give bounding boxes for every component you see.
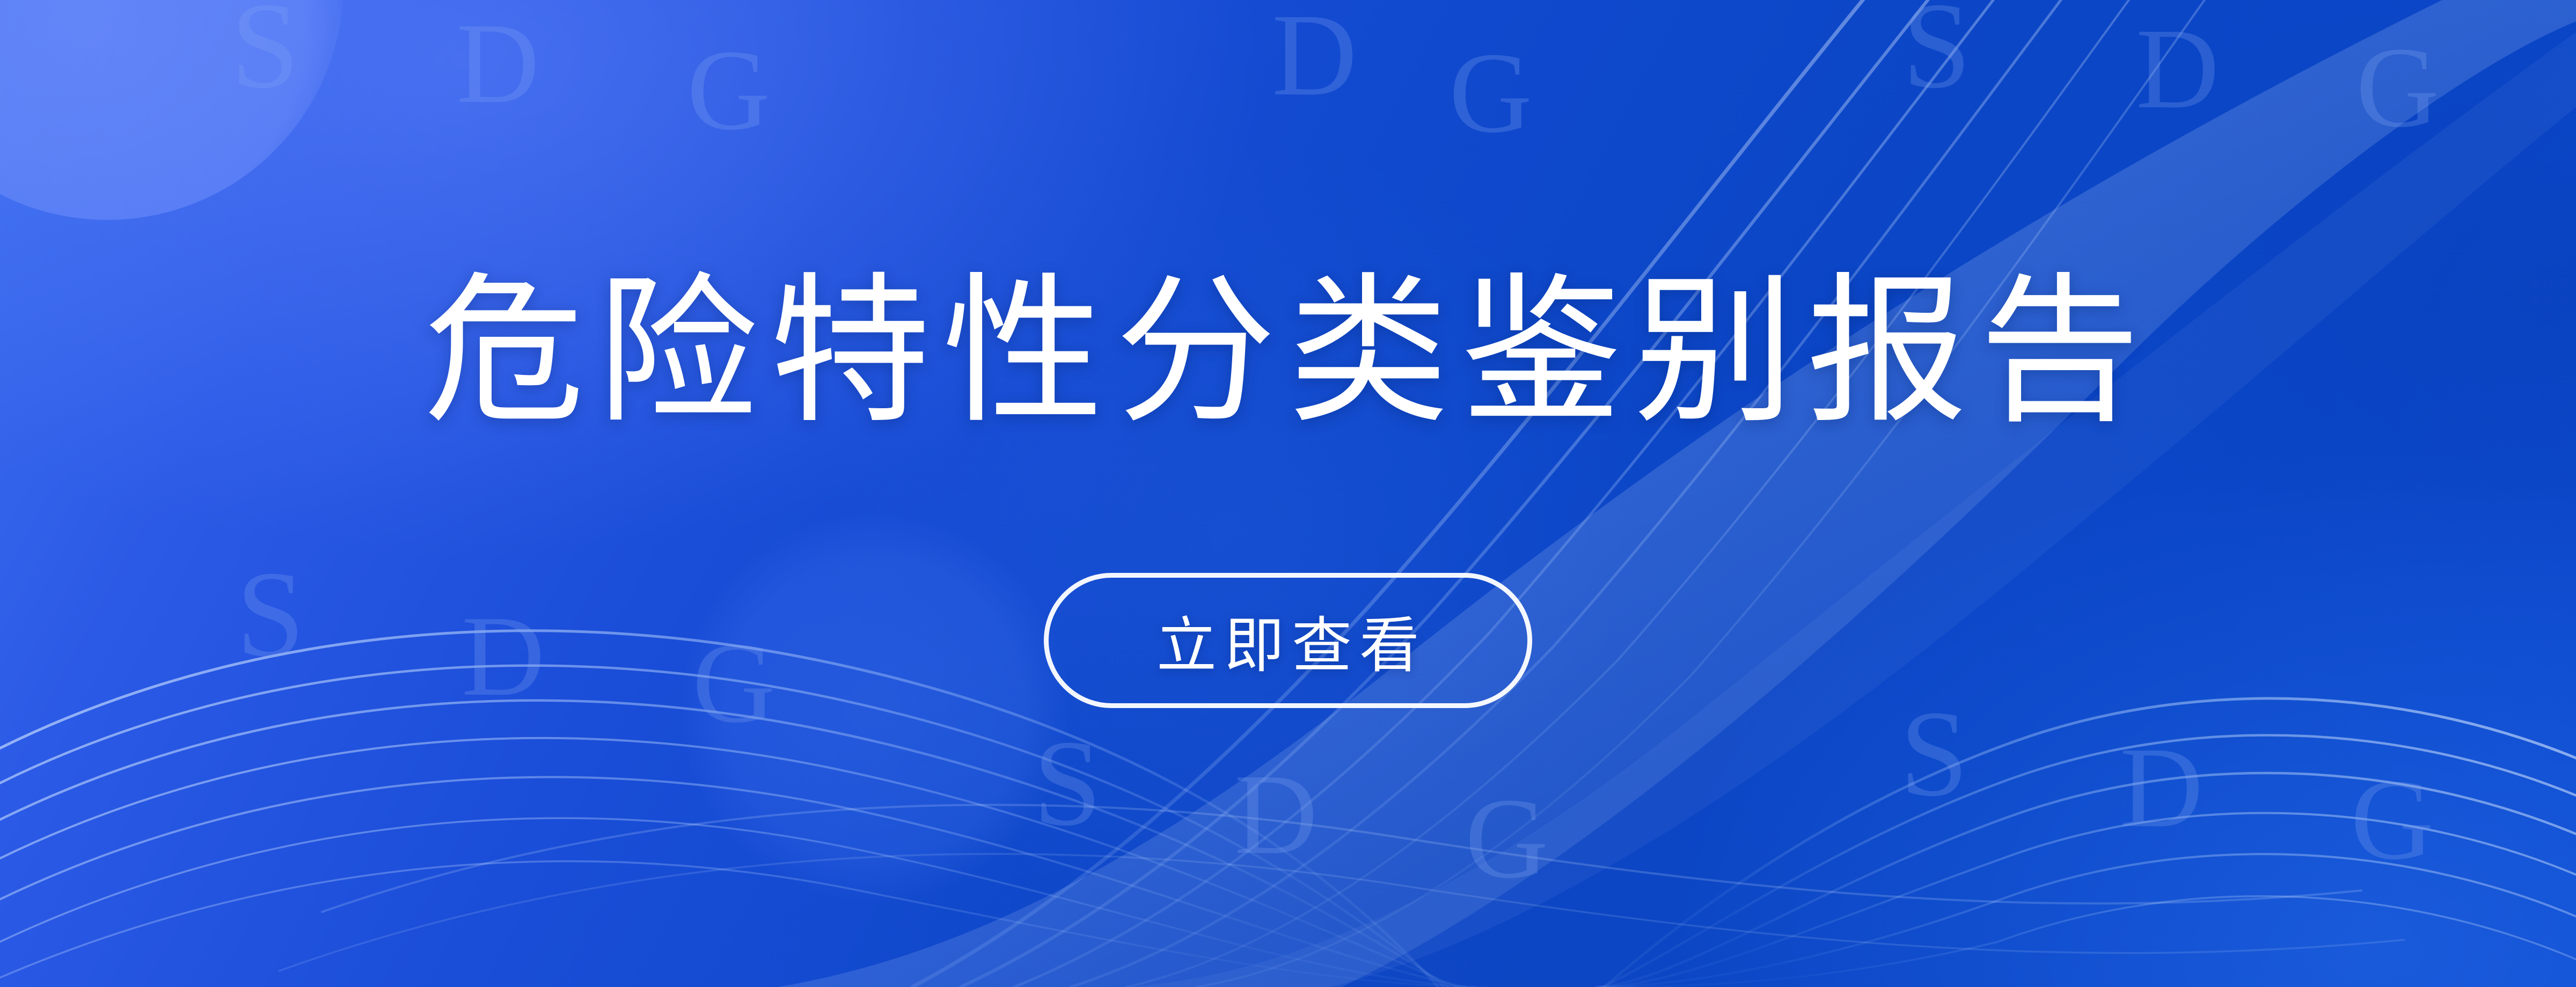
watermark-letter: S [1033,721,1102,845]
watermark-letter: D [2120,730,2203,845]
cta-container: 立即查看 [0,573,2576,708]
watermark-letter: D [1272,0,1357,114]
view-now-button[interactable]: 立即查看 [1044,573,1532,708]
watermark-letter: D [456,5,539,121]
watermark-letter-layer: SDGDGSDGSDGSDGSDG [0,0,2576,987]
page-title: 危险特性分类鉴别报告 [0,256,2576,446]
watermark-letter: S [1902,0,1971,107]
watermark-letter: G [687,32,770,148]
watermark-letter: S [1900,692,1968,815]
watermark-letter: D [1234,756,1318,872]
watermark-letter: G [1449,35,1532,150]
watermark-letter: S [231,0,299,107]
watermark-letter: G [1465,780,1548,896]
watermark-letter: D [2136,11,2219,126]
watermark-letter: G [2351,762,2434,877]
promo-banner: SDGDGSDGSDGSDGSDG 危险特性分类鉴别报告 立即查看 [0,0,2576,987]
watermark-letter: G [2356,30,2439,145]
